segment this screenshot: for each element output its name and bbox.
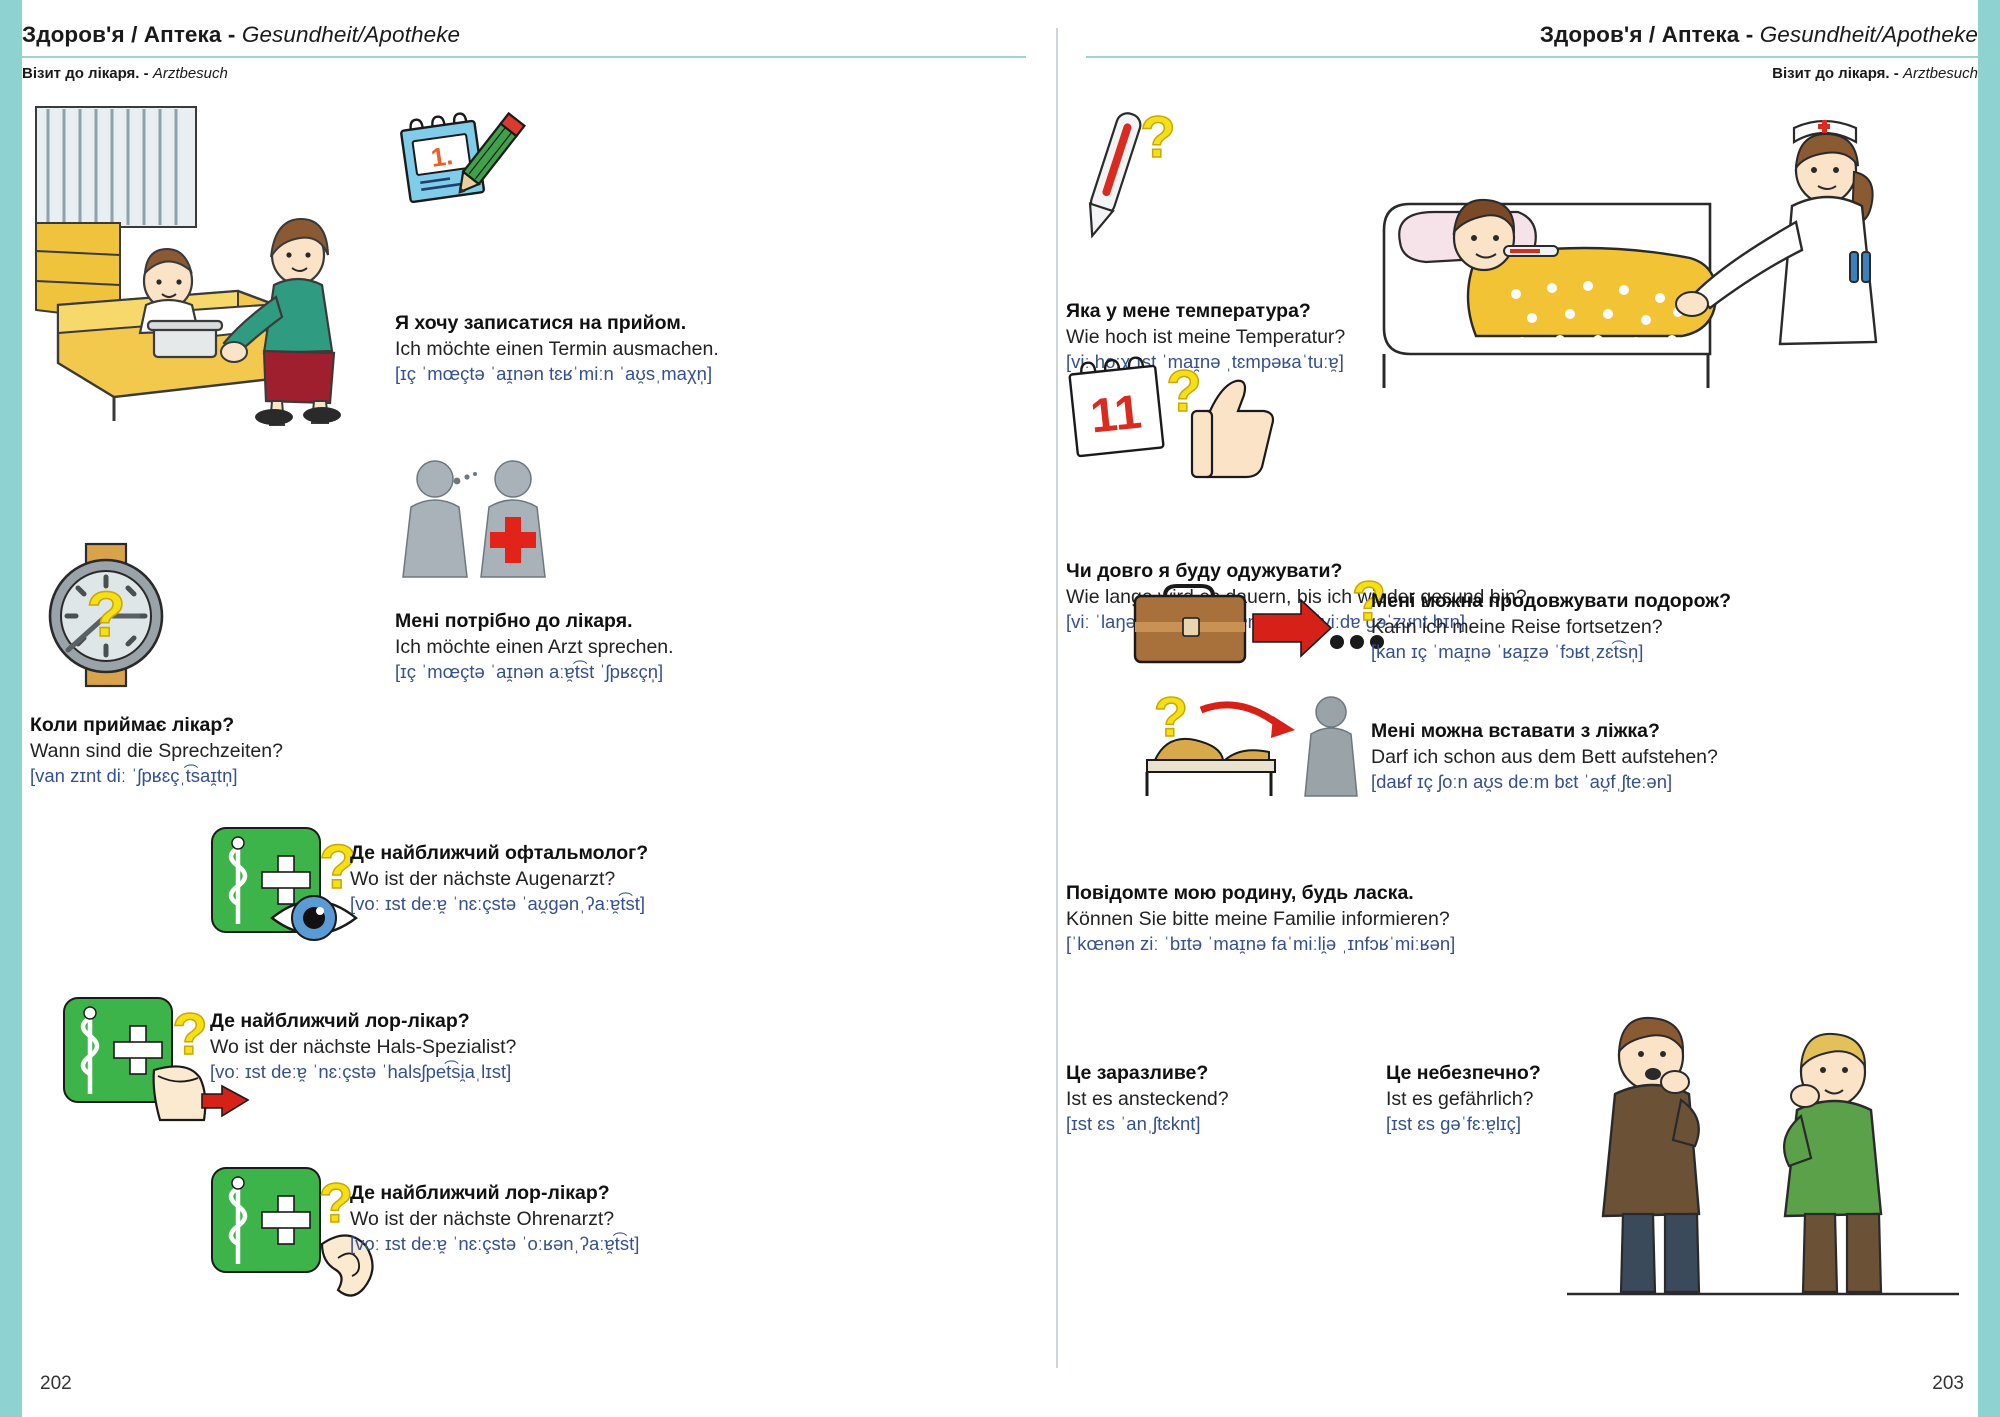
header-rule-right (1086, 56, 1978, 58)
bed-standing-person-icon: ? (1141, 690, 1391, 800)
phrase-de: Ich möchte einen Arzt sprechen. (395, 634, 1015, 660)
phrase-uk: Де найближчий лор-лікар? (210, 1008, 850, 1034)
phrase-ipa: [kan ɪç ˈmaɪ̯nə ˈʁaɪ̯zə ˈfɔʁtˌzɛt͡sn̩] (1371, 640, 1991, 665)
header-rule-left (22, 56, 1026, 58)
phrase-uk: Де найближчий офтальмолог? (350, 840, 990, 866)
page-title-uk: Здоров'я / Аптека (22, 22, 222, 47)
svg-text:11: 11 (1088, 386, 1144, 444)
phrase-block-consultation-hours: Коли приймає лікар? Wann sind die Sprech… (30, 712, 550, 789)
phrase-ipa: [daʁf ɪç ʃoːn aʊ̯s deːm bɛt ˈaʊ̯fˌʃteːən… (1371, 770, 1991, 795)
phrase-de: Ich möchte einen Termin ausmachen. (395, 336, 1015, 362)
coughing-men-illustration (1561, 1000, 1961, 1300)
page-title-de: Gesundheit/Apotheke (242, 22, 460, 47)
page-subtitle-uk: Візит до лікаря. (1772, 65, 1889, 82)
header-right: Здоров'я / Аптека - Gesundheit/Apotheke … (1086, 0, 1978, 82)
wristwatch-question-icon: ? (38, 540, 178, 690)
phrase-uk: Де найближчий лор-лікар? (350, 1180, 990, 1206)
phrase-uk: Я хочу записатися на прийом. (395, 310, 1015, 336)
book-spread: Здоров'я / Аптека - Gesundheit/Apotheke … (0, 0, 2000, 1417)
phrase-de: Wo ist der nächste Ohrenarzt? (350, 1206, 990, 1232)
phrase-ipa: [ɪç ˈmœçtə ˈaɪ̯nən aːɐ̯t͡st ˈʃpʁɛçn̩] (395, 660, 1015, 685)
svg-text:?: ? (319, 1171, 353, 1234)
page-title-de: Gesundheit/Apotheke (1760, 22, 1978, 47)
thermometer-question-icon: ? (1066, 105, 1186, 245)
phrase-de: Ist es ansteckend? (1066, 1086, 1386, 1112)
phrase-uk: Повідомте мою родину, будь ласка. (1066, 880, 1786, 906)
page-subtitle-right: Візит до лікаря. - Arztbesuch (1086, 65, 1978, 82)
phrase-ipa: [voː ɪst deːɐ̯ ˈnɛːçstə ˈhalsʃpet͡si̯aˌl… (210, 1060, 850, 1085)
phrase-ipa: [van zɪnt diː ˈʃpʁɛçˌt͡saɪ̯tn̩] (30, 764, 550, 789)
svg-text:?: ? (1140, 105, 1175, 170)
phrase-ipa: [voː ɪst deːɐ̯ ˈnɛːçstə ˈaʊ̯gənˌʔaːɐ̯t͡s… (350, 892, 990, 917)
page-subtitle-sep: - (144, 65, 149, 82)
svg-text:?: ? (86, 578, 125, 650)
two-people-redcross-icon (395, 455, 555, 580)
page-title-right: Здоров'я / Аптека - Gesundheit/Apotheke (1086, 22, 1978, 48)
svg-text:1.: 1. (429, 140, 455, 173)
phrase-uk: Мені можна продовжувати подорож? (1371, 588, 1991, 614)
page-title-sep: - (1746, 22, 1754, 47)
phrase-ipa: [ˈkœnən ziː ˈbɪtə ˈmaɪ̯nə faˈmiːli̯ə ˌɪn… (1066, 932, 1786, 957)
phrase-de: Darf ich schon aus dem Bett aufstehen? (1371, 744, 1991, 770)
page-subtitle-uk: Візит до лікаря. (22, 65, 139, 82)
phrase-ipa: [ɪç ˈmœçtə ˈaɪ̯nən tɛʁˈmiːn ˈaʊ̯sˌmaχn̩] (395, 362, 1015, 387)
phrase-block-see-doctor: Мені потрібно до лікаря. Ich möchte eine… (395, 608, 1015, 685)
page-title-sep: - (228, 22, 236, 47)
phrase-block-get-out-of-bed: Мені можна вставати з ліжка? Darf ich sc… (1371, 718, 1991, 795)
phrase-ipa: [voː ɪst deːɐ̯ ˈnɛːçstə ˈoːʁənˌʔaːɐ̯t͡st… (350, 1232, 990, 1257)
calendar-pencil-icon: 1. (398, 112, 526, 222)
phrase-de: Können Sie bitte meine Familie informier… (1066, 906, 1786, 932)
phrase-block-ear-doctor: Де найближчий лор-лікар? Wo ist der näch… (350, 1180, 990, 1257)
page-title-uk: Здоров'я / Аптека (1540, 22, 1740, 47)
page-number-left: 202 (40, 1373, 72, 1395)
page-subtitle-left: Візит до лікаря. - Arztbesuch (22, 65, 1026, 82)
phrase-uk: Коли приймає лікар? (30, 712, 550, 738)
page-subtitle-de: Arztbesuch (1903, 65, 1978, 82)
page-subtitle-de: Arztbesuch (153, 65, 228, 82)
suitcase-arrow-question-icon: ? (1131, 578, 1391, 683)
phrase-ipa: [ɪst ɛs ˈanˌʃtɛknt] (1066, 1112, 1386, 1137)
page-left: Здоров'я / Аптека - Gesundheit/Apotheke … (0, 0, 1056, 1417)
phrase-block-continue-travel: Мені можна продовжувати подорож? Kann ic… (1371, 588, 1991, 665)
page-right: Здоров'я / Аптека - Gesundheit/Apotheke … (1056, 0, 2000, 1417)
svg-text:?: ? (172, 1002, 207, 1067)
phrase-block-appointment: Я хочу записатися на прийом. Ich möchte … (395, 310, 1015, 387)
phrase-de: Wo ist der nächste Augenarzt? (350, 866, 990, 892)
phrase-block-contagious: Це заразливе? Ist es ansteckend? [ɪst ɛs… (1066, 1060, 1386, 1137)
phrase-uk: Мені можна вставати з ліжка? (1371, 718, 1991, 744)
phrase-block-inform-family: Повідомте мою родину, будь ласка. Können… (1066, 880, 1786, 957)
phrase-de: Wann sind die Sprechzeiten? (30, 738, 550, 764)
header-left: Здоров'я / Аптека - Gesundheit/Apotheke … (22, 0, 1026, 82)
phrase-uk: Це заразливе? (1066, 1060, 1386, 1086)
nurse-patient-illustration (1356, 102, 1956, 392)
phrase-uk: Мені потрібно до лікаря. (395, 608, 1015, 634)
phrase-de: Kann ich meine Reise fortsetzen? (1371, 614, 1991, 640)
hospital-room-illustration (28, 105, 358, 425)
phrase-block-eye-doctor: Де найближчий офтальмолог? Wo ist der nä… (350, 840, 990, 917)
page-number-right: 203 (1932, 1373, 1964, 1395)
phrase-block-throat-doctor: Де найближчий лор-лікар? Wo ist der näch… (210, 1008, 850, 1085)
page-subtitle-sep: - (1894, 65, 1899, 82)
calendar-thumbsup-icon: 11 ? (1066, 355, 1276, 485)
page-title-left: Здоров'я / Аптека - Gesundheit/Apotheke (22, 22, 1026, 48)
phrase-de: Wo ist der nächste Hals-Spezialist? (210, 1034, 850, 1060)
